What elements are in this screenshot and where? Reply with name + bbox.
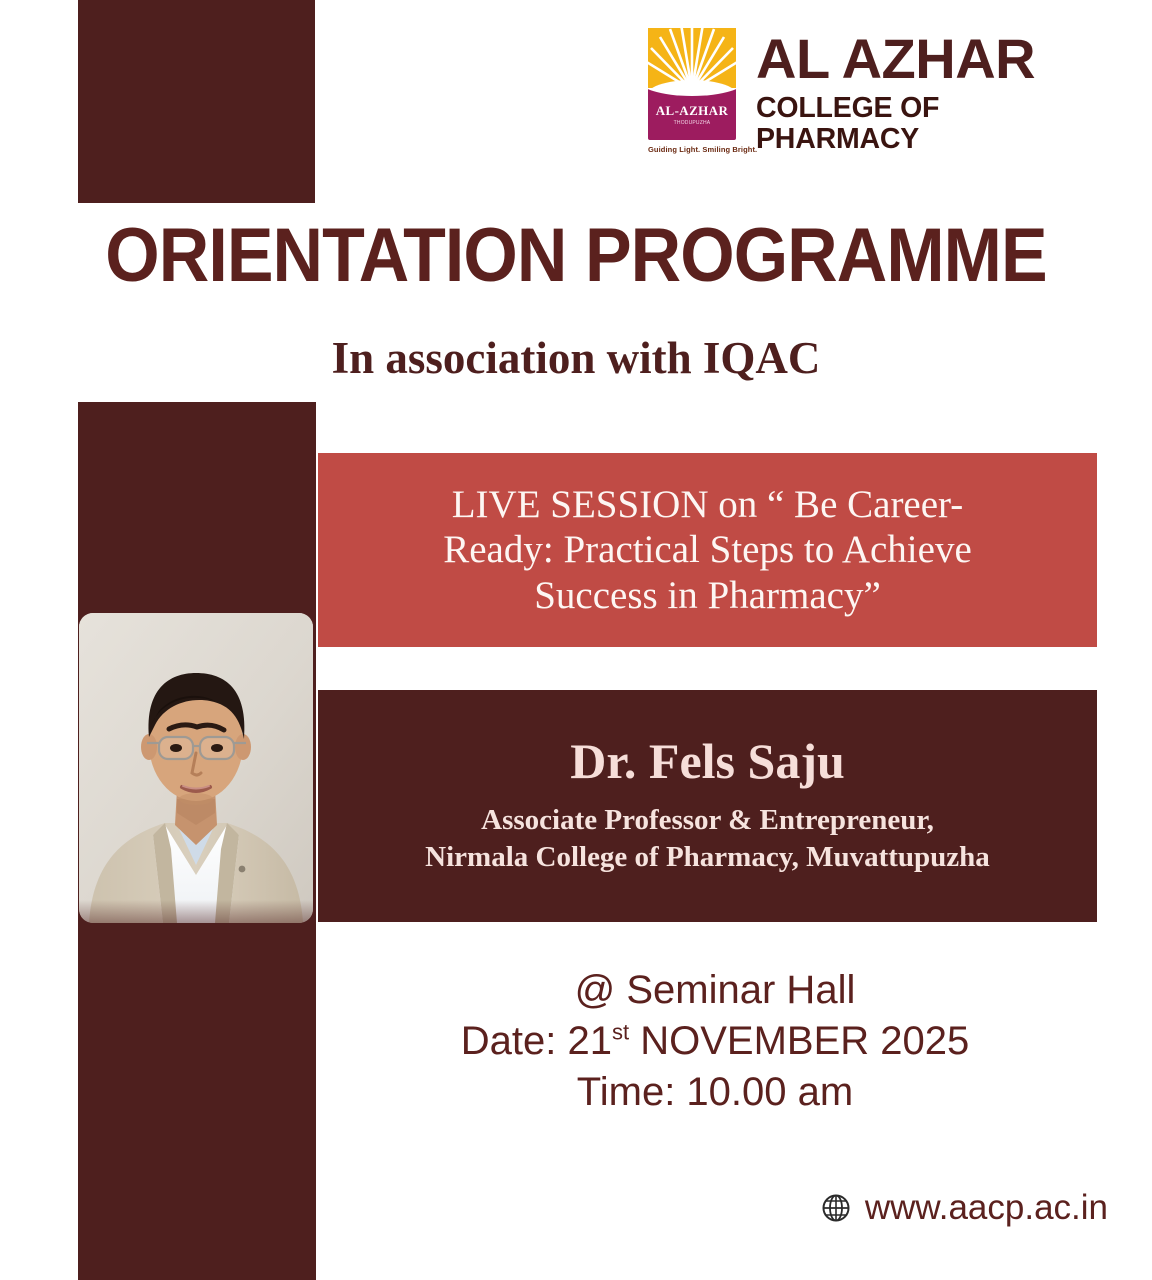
session-title-line3: Success in Pharmacy” (534, 574, 881, 617)
logo-plate-arc (648, 88, 736, 96)
poster-root: AL-AZHAR THODUPUZHA Guiding Light. Smili… (0, 0, 1152, 1280)
sunburst-logo-icon (648, 28, 736, 90)
session-banner: LIVE SESSION on “ Be Career- Ready: Prac… (318, 453, 1097, 647)
page-title: ORIENTATION PROGRAMME (46, 218, 1106, 294)
college-logo: AL-AZHAR THODUPUZHA Guiding Light. Smili… (648, 24, 1078, 169)
event-date-label: Date: (461, 1019, 568, 1063)
event-time: Time: 10.00 am (330, 1067, 1100, 1118)
speaker-role: Associate Professor & Entrepreneur, (481, 802, 934, 840)
page-subtitle: In association with IQAC (0, 332, 1152, 384)
event-date: Date: 21st NOVEMBER 2025 (330, 1016, 1100, 1067)
decorative-bar-top (78, 0, 315, 203)
website-url[interactable]: www.aacp.ac.in (865, 1188, 1108, 1228)
session-title: LIVE SESSION on “ Be Career- Ready: Prac… (443, 482, 972, 619)
event-venue: @ Seminar Hall (330, 965, 1100, 1016)
event-date-ordinal: st (612, 1020, 629, 1045)
speaker-affiliation: Nirmala College of Pharmacy, Muvattupuzh… (425, 839, 990, 877)
session-title-line1: LIVE SESSION on “ Be Career- (452, 483, 964, 526)
event-details: @ Seminar Hall Date: 21st NOVEMBER 2025 … (330, 965, 1100, 1119)
speaker-portrait (79, 613, 313, 923)
logo-wordmark: AL AZHAR COLLEGE OF PHARMACY (744, 24, 1078, 156)
logo-name-line1: AL AZHAR (756, 32, 1078, 87)
speaker-name: Dr. Fels Saju (570, 735, 845, 788)
logo-plate-sub: THODUPUZHA (648, 120, 736, 126)
event-date-day: 21 (567, 1019, 612, 1063)
speaker-panel: Dr. Fels Saju Associate Professor & Entr… (318, 690, 1097, 922)
website-footer[interactable]: www.aacp.ac.in (821, 1188, 1108, 1228)
logo-tagline: Guiding Light. Smiling Bright. (648, 145, 744, 154)
session-title-line2: Ready: Practical Steps to Achieve (443, 528, 972, 571)
logo-mark: AL-AZHAR THODUPUZHA Guiding Light. Smili… (648, 24, 744, 154)
logo-plate-name: AL-AZHAR (648, 103, 736, 119)
logo-name-line2: COLLEGE OF PHARMACY (756, 93, 1078, 156)
logo-nameplate: AL-AZHAR THODUPUZHA (648, 88, 736, 140)
globe-icon (821, 1193, 851, 1223)
event-date-rest: NOVEMBER 2025 (629, 1019, 969, 1063)
